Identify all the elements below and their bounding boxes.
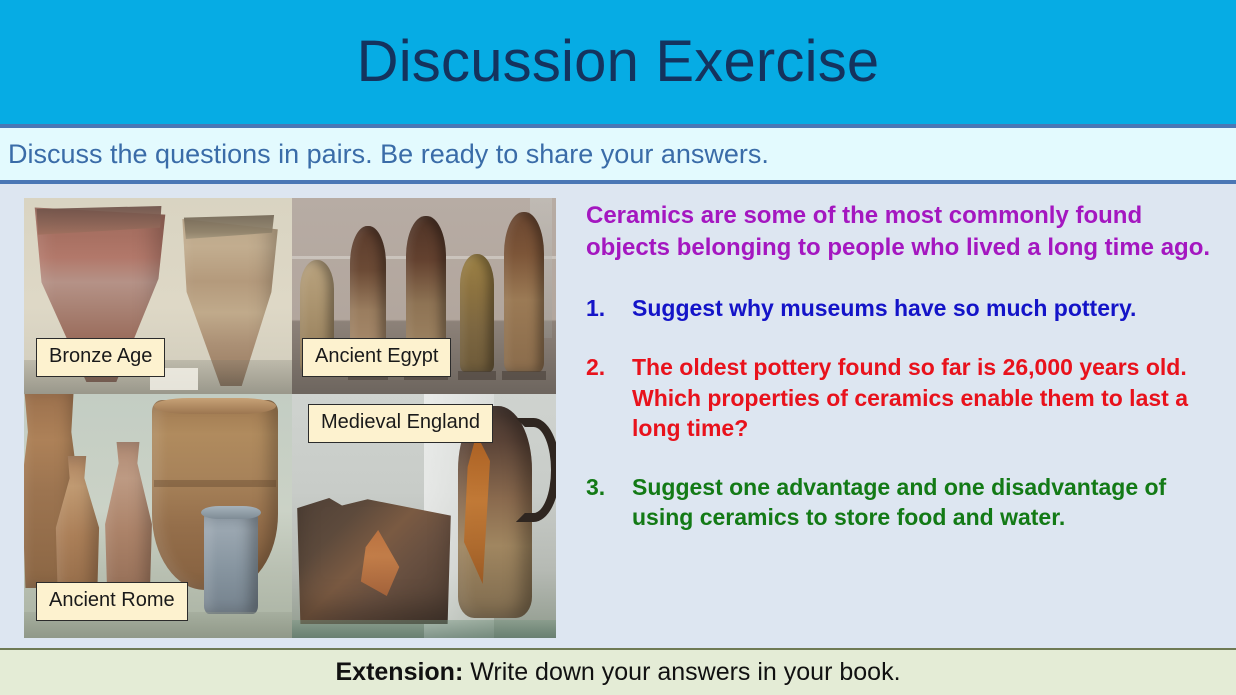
photo-ancient-rome: Ancient Rome	[24, 394, 292, 638]
photo-grid: Bronze Age Ancient Egypt A	[24, 198, 556, 638]
question-number-2: 2.	[586, 352, 632, 444]
photo-caption-ancient-rome: Ancient Rome	[36, 582, 188, 621]
jug-handle	[516, 418, 556, 522]
extension-instruction: Write down your answers in your book.	[463, 658, 900, 686]
glass-shelf	[292, 620, 556, 638]
title-banner: Discussion Exercise	[0, 0, 1236, 124]
question-item-2: 2. The oldest pottery found so far is 26…	[586, 352, 1222, 444]
slide-canvas: Discussion Exercise Discuss the question…	[0, 0, 1236, 695]
photo-ancient-egypt: Ancient Egypt	[292, 198, 556, 394]
photo-caption-bronze-age: Bronze Age	[36, 338, 165, 377]
shabti-figure-5	[504, 212, 544, 372]
grey-jar-lid	[201, 506, 261, 519]
photo-bronze-age: Bronze Age	[24, 198, 292, 394]
question-item-1: 1. Suggest why museums have so much pott…	[586, 293, 1222, 324]
question-number-3: 3.	[586, 472, 632, 533]
extension-text: Extension: Write down your answers in yo…	[335, 658, 900, 687]
shabti-base-5	[502, 371, 546, 380]
question-column: Ceramics are some of the most commonly f…	[586, 200, 1222, 533]
question-number-1: 1.	[586, 293, 632, 324]
roman-vessel-large-band	[154, 480, 276, 487]
intro-paragraph: Ceramics are some of the most commonly f…	[586, 200, 1222, 263]
photo-caption-ancient-egypt: Ancient Egypt	[302, 338, 451, 377]
photo-caption-medieval-england: Medieval England	[308, 404, 493, 443]
question-item-3: 3. Suggest one advantage and one disadva…	[586, 472, 1222, 533]
question-text-1: Suggest why museums have so much pottery…	[632, 293, 1222, 324]
photo-medieval-england: Medieval England	[292, 394, 556, 638]
shabti-figure-4	[460, 254, 494, 372]
shabti-base-4	[458, 371, 496, 380]
roman-vessel-large-rim	[154, 398, 276, 414]
roman-vessel-3	[102, 442, 154, 594]
page-title: Discussion Exercise	[357, 33, 880, 91]
extension-bar: Extension: Write down your answers in yo…	[0, 648, 1236, 695]
subtitle-band: Discuss the questions in pairs. Be ready…	[0, 124, 1236, 184]
question-list: 1. Suggest why museums have so much pott…	[586, 293, 1222, 532]
extension-label: Extension:	[335, 658, 463, 686]
subtitle-text: Discuss the questions in pairs. Be ready…	[0, 139, 769, 170]
question-text-2: The oldest pottery found so far is 26,00…	[632, 352, 1222, 444]
question-text-3: Suggest one advantage and one disadvanta…	[632, 472, 1222, 533]
grey-cylindrical-jar	[204, 510, 258, 614]
